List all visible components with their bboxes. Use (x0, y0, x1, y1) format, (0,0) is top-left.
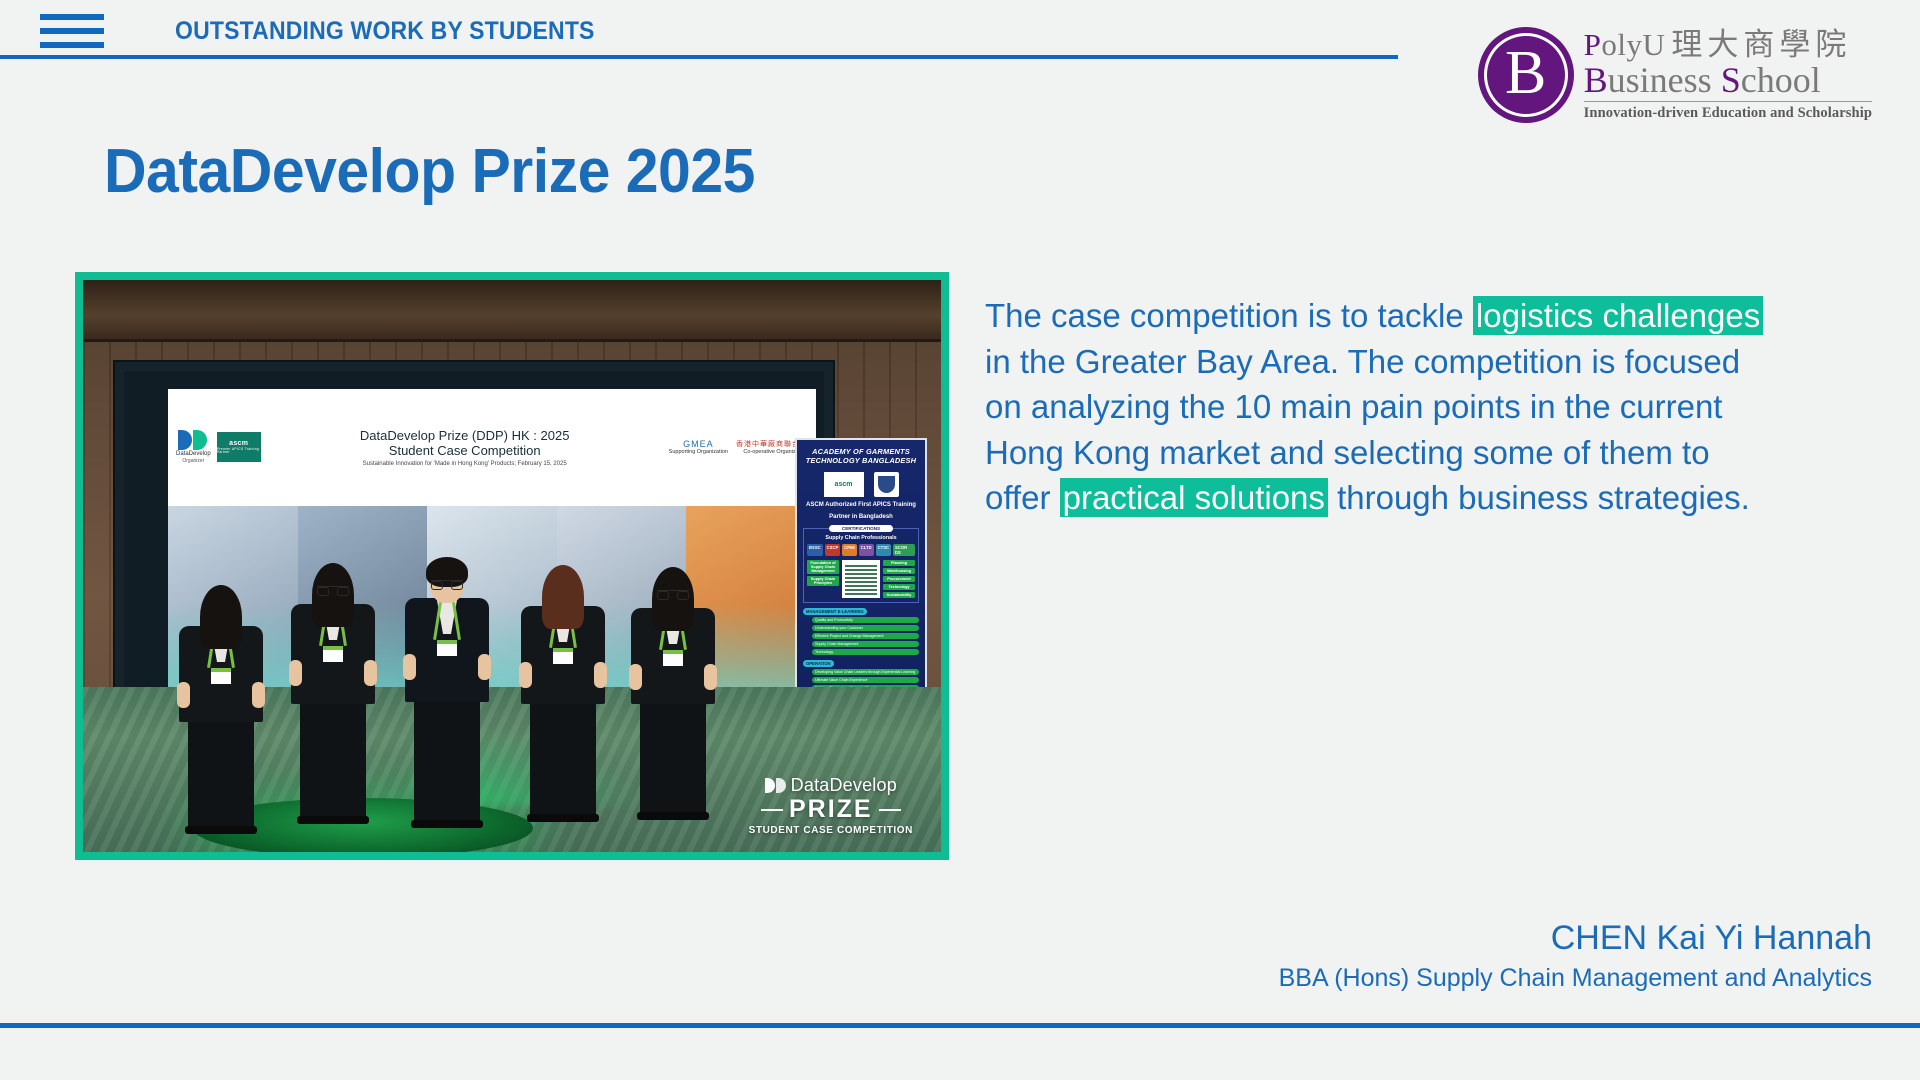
rollup-operation-header: OPERATION (803, 660, 834, 667)
student-5 (631, 573, 715, 820)
thumbs-up-icon (594, 662, 607, 688)
logo-line-business-school: Business School (1584, 62, 1872, 102)
page-title: DataDevelop Prize 2025 (104, 136, 755, 207)
ascm-label: ascm (229, 440, 248, 447)
qr-code-icon (842, 560, 880, 598)
thumbs-up-icon (252, 682, 265, 708)
hamburger-bar (40, 28, 104, 34)
cert-chip: CSCP (825, 544, 841, 556)
logo-usiness: usiness (1608, 60, 1721, 100)
logo-b-monogram-icon: B (1478, 27, 1574, 123)
logo-tagline: Innovation-driven Education and Scholars… (1584, 106, 1872, 121)
rollup-cert-columns: Foundation of Supply Chain Management Su… (807, 560, 915, 598)
ascm-logo: ascm Premier APICS Training Partner (217, 432, 261, 462)
cert-chip: CPIM (842, 544, 856, 556)
rollup-advanced-item: Technology (883, 584, 915, 590)
student-programme: BBA (Hons) Supply Chain Management and A… (1279, 962, 1872, 995)
event-photograph: DataDevelop Organizer ascm Premier APICS… (83, 280, 941, 852)
logo-b-glyph: B (1584, 60, 1608, 100)
rollup-advanced-item: Warehousing (883, 568, 915, 574)
rollup-title-line2: TECHNOLOGY BANGLADESH (803, 456, 919, 465)
rollup-advanced-item: Procurement (883, 576, 915, 582)
thumbs-up-icon (629, 664, 642, 690)
glasses-icon (431, 580, 463, 589)
student-head (546, 571, 580, 611)
watermark-brand: DataDevelop (791, 775, 897, 796)
watermark-prize: PRIZE (789, 795, 873, 824)
student-shoes (527, 814, 599, 822)
logo-line-polyu: PolyU理大商學院 (1584, 29, 1872, 60)
watermark-subtitle: STUDENT CASE COMPETITION (749, 825, 913, 836)
student-head (656, 573, 690, 613)
rollup-quest-item: Understanding your Customer (812, 625, 919, 631)
rollup-operation-item: Ultimate Value Chain Experience (812, 677, 919, 683)
rollup-advanced-column: Planning Warehousing Procurement Technol… (883, 560, 915, 598)
rollup-certifications-header: CERTIFICATIONS (829, 525, 894, 532)
name-badge (553, 648, 573, 664)
organizer-logo: DataDevelop Organizer (176, 430, 211, 464)
hair (542, 565, 584, 629)
logo-s-glyph: S (1721, 60, 1741, 100)
screen-title-line2: Student Case Competition (267, 443, 663, 458)
screen-banner-titles: DataDevelop Prize (DDP) HK : 2025 Studen… (267, 428, 663, 467)
rollup-subtitle-line1: ASCM Authorized First APICS Training (803, 502, 919, 510)
header-divider (0, 55, 1398, 59)
cert-chip: CLTD (859, 544, 874, 556)
slide-root: OUTSTANDING WORK BY STUDENTS B PolyU理大商學… (0, 0, 1920, 1080)
logo-wordmark: PolyU理大商學院 Business School Innovation-dr… (1584, 29, 1872, 121)
rollup-management-section: MANAGEMENT E-LEARNING Quality and Produc… (803, 608, 919, 655)
hamburger-bar (40, 14, 104, 20)
logo-olyu: olyU (1601, 27, 1665, 62)
description-segment-1: The case competition is to tackle (985, 297, 1473, 334)
gmea-logo: GMEA (669, 439, 728, 449)
student-4 (521, 571, 605, 822)
rollup-logos: ascm (803, 472, 919, 497)
thumbs-up-icon (704, 664, 717, 690)
student-legs (640, 704, 706, 812)
datadevelop-logo-icon (765, 778, 786, 793)
rollup-cert-group: Supply Chain Professionals (807, 535, 915, 541)
rollup-quest-item: Quality and Productivity (812, 617, 919, 623)
student-2 (291, 569, 375, 824)
watermark-rule-left (761, 809, 783, 811)
student-legs (300, 704, 366, 816)
cert-chip: CTSC (876, 544, 891, 556)
rollup-quest-item: Technology (812, 649, 919, 655)
student-legs (188, 722, 254, 826)
hamburger-bar (40, 42, 104, 48)
rollup-cert-chips: BSSC CSCP CPIM CLTD CTSC SCOR DS (807, 544, 915, 556)
student-head (316, 569, 350, 609)
screen-title-line1: DataDevelop Prize (DDP) HK : 2025 (267, 428, 663, 443)
logo-cjk: 理大商學院 (1671, 27, 1851, 62)
student-shoes (411, 820, 483, 828)
screen-banner: DataDevelop Organizer ascm Premier APICS… (168, 389, 816, 506)
student-name: CHEN Kai Yi Hannah (1279, 917, 1872, 960)
header-title: OUTSTANDING WORK BY STUDENTS (175, 17, 595, 46)
student-head (204, 591, 238, 631)
thumbs-up-icon (364, 660, 377, 686)
name-badge (323, 646, 343, 662)
datadevelop-watermark: DataDevelop PRIZE STUDENT CASE COMPETITI… (749, 775, 913, 836)
attribution: CHEN Kai Yi Hannah BBA (Hons) Supply Cha… (1279, 917, 1872, 994)
screen-banner-partners: GMEA Supporting Organization 香港中華廠商聯合會 C… (669, 439, 808, 455)
student-legs (530, 704, 596, 814)
student-3 (405, 563, 489, 828)
rollup-operation-item: Developing Value Chain Leaders through E… (812, 669, 919, 675)
name-badge (437, 640, 457, 656)
ascm-sublabel: Premier APICS Training Partner (217, 448, 261, 455)
student-head (430, 563, 464, 603)
rollup-quest-items: Quality and Productivity Understanding y… (812, 617, 919, 655)
rollup-advanced-item: Planning (883, 560, 915, 566)
rollup-quest-item: Effective Project and Change Management (812, 633, 919, 639)
cert-chip: BSSC (807, 544, 823, 556)
thumbs-up-icon (177, 682, 190, 708)
rollup-entry-column: Foundation of Supply Chain Management Su… (807, 560, 839, 598)
datadevelop-mark-icon (178, 430, 208, 450)
thumbs-up-icon (519, 662, 532, 688)
logo-p-glyph: P (1584, 27, 1602, 62)
rollup-crest-icon (874, 472, 899, 497)
hamburger-menu-icon[interactable] (40, 14, 104, 48)
wood-ceiling (83, 280, 941, 342)
student-1 (179, 591, 263, 834)
footer-divider (0, 1023, 1920, 1028)
description-paragraph: The case competition is to tackle logist… (985, 293, 1775, 521)
organizer-name: DataDevelop (176, 451, 211, 457)
cert-chip: SCOR DS (893, 544, 915, 556)
description-segment-3: through business strategies. (1328, 479, 1750, 516)
rollup-entry-item: Foundation of Supply Chain Management (807, 560, 839, 574)
name-badge (211, 668, 231, 684)
lanyard (434, 602, 460, 656)
rollup-ascm-logo: ascm (824, 472, 864, 497)
screen-subtitle: Sustainable Innovation for 'Made in Hong… (267, 461, 663, 467)
supporting-organization: GMEA Supporting Organization (669, 439, 728, 455)
hair (200, 585, 242, 649)
watermark-rule-right (879, 809, 901, 811)
highlight-logistics-challenges: logistics challenges (1473, 296, 1763, 335)
highlight-practical-solutions: practical solutions (1060, 478, 1328, 517)
student-shoes (297, 816, 369, 824)
rollup-certifications: CERTIFICATIONS Supply Chain Professional… (803, 528, 919, 603)
supporting-label: Supporting Organization (669, 449, 728, 455)
photo-frame: DataDevelop Organizer ascm Premier APICS… (75, 272, 949, 860)
rollup-entry-item: Supply Chain Principles (807, 576, 839, 586)
watermark-brand-row: DataDevelop (749, 775, 913, 796)
rollup-advanced-item: Sustainability (883, 592, 915, 598)
polyu-business-school-logo: B PolyU理大商學院 Business School Innovation-… (1478, 27, 1872, 123)
student-legs (414, 702, 480, 820)
logo-mark-letter: B (1505, 42, 1546, 104)
rollup-management-header: MANAGEMENT E-LEARNING (803, 608, 867, 615)
glasses-icon (317, 586, 349, 595)
thumbs-up-icon (289, 660, 302, 686)
rollup-quest-item: Supply Chain Management (812, 641, 919, 647)
rollup-qr-column (842, 560, 880, 598)
student-torso (405, 598, 489, 702)
student-shoes (185, 826, 257, 834)
thumbs-up-icon (478, 654, 491, 680)
student-shoes (637, 812, 709, 820)
students-group (179, 534, 739, 834)
glasses-icon (657, 590, 689, 599)
logo-chool: chool (1741, 60, 1821, 100)
name-badge (663, 650, 683, 666)
thumbs-up-icon (403, 654, 416, 680)
watermark-prize-row: PRIZE (749, 795, 913, 824)
rollup-title-line1: ACADEMY OF GARMENTS (803, 447, 919, 456)
rollup-subtitle-line2: Partner in Bangladesh (803, 514, 919, 522)
organizer-label: Organizer (182, 458, 204, 464)
